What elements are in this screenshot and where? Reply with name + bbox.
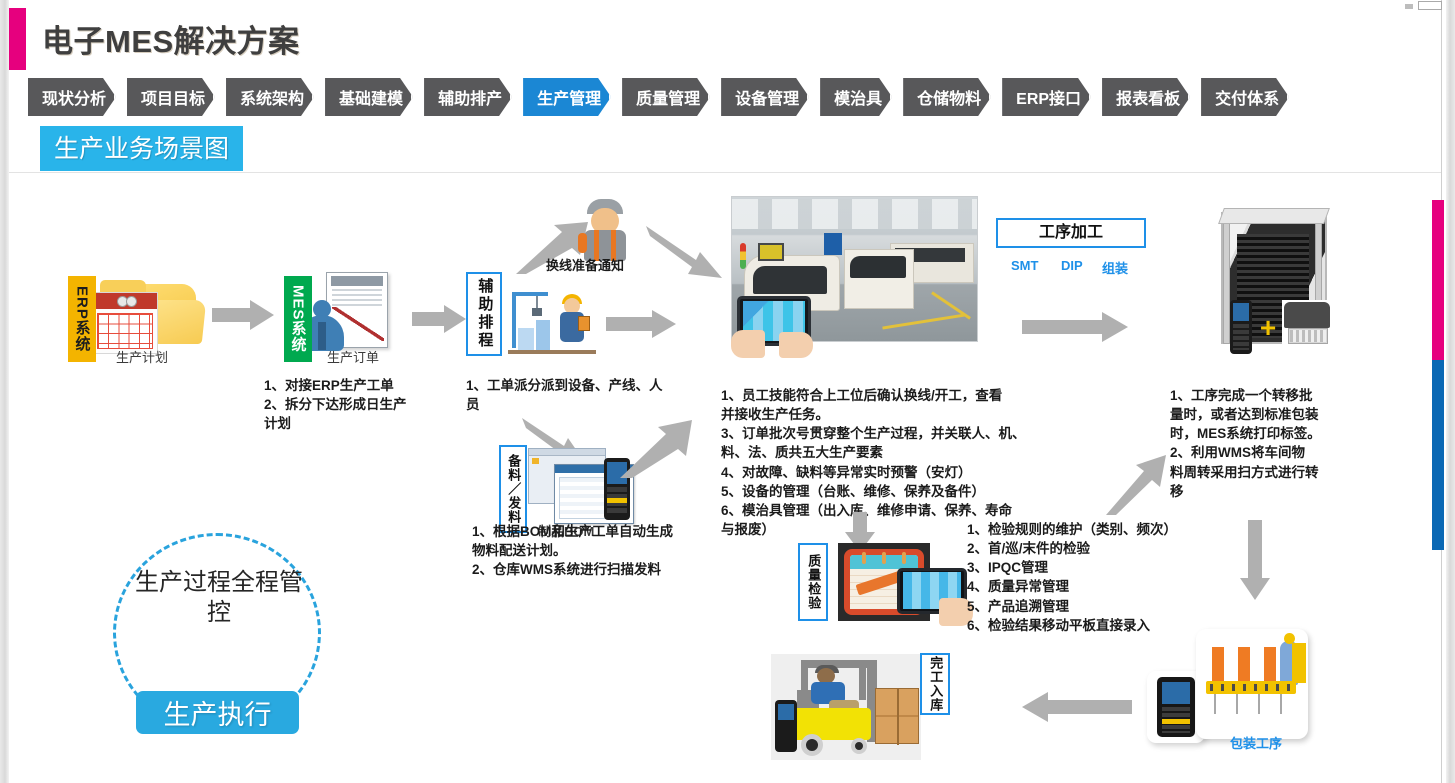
process-box[interactable]: 工序加工	[996, 218, 1146, 248]
arrow-transfer-to-packaging	[1240, 520, 1270, 600]
quality-tablet-icon	[893, 568, 975, 626]
scrollbar-segment-blue[interactable]	[1432, 360, 1444, 550]
label-printer-icon	[1282, 300, 1334, 352]
nav-item-6[interactable]: 质量管理	[622, 78, 710, 116]
mes-system-tag: MES系统	[284, 276, 312, 362]
calendar-icon	[92, 292, 158, 354]
material-notes: 1、根据BOM和生产工单自动生成 物料配送计划。 2、仓库WMS系统进行扫描发料	[472, 522, 722, 579]
process-step-smt: SMT	[1011, 258, 1038, 273]
mes-notes: 1、对接ERP生产工单 2、拆分下达形成日生产 计划	[264, 376, 454, 433]
arrow-packaging-to-finish	[1022, 692, 1132, 722]
nav-item-3[interactable]: 基础建模	[325, 78, 413, 116]
erp-system-tag: ERP系统	[68, 276, 96, 362]
engineer-illustration	[508, 288, 596, 354]
arrow-aux-to-production	[606, 310, 676, 338]
header-divider	[9, 172, 1441, 173]
window-control-chip[interactable]	[1418, 1, 1442, 10]
aux-scheduling-box[interactable]: 辅助排程	[466, 272, 502, 356]
nav-item-8[interactable]: 模治具	[820, 78, 892, 116]
aux-notes: 1、工单派分派到设备、产线、人 员	[466, 376, 676, 414]
transfer-notes: 1、工序完成一个转移批 量时，或者达到标准包装 时，MES系统打印标签。 2、利…	[1170, 386, 1330, 501]
nav-item-9[interactable]: 仓储物料	[903, 78, 991, 116]
nav-item-0[interactable]: 现状分析	[28, 78, 116, 116]
nav-item-7[interactable]: 设备管理	[721, 78, 809, 116]
arrow-material-to-production	[620, 420, 692, 478]
arrow-mes-to-aux	[412, 305, 466, 333]
worker-thumbsup-icon	[578, 199, 632, 261]
nav-item-10[interactable]: ERP接口	[1002, 78, 1091, 116]
nav-item-4[interactable]: 辅助排产	[424, 78, 512, 116]
mes-caption: 生产订单	[327, 347, 379, 366]
changeover-label: 换线准备通知	[546, 255, 624, 274]
title-accent-bar	[9, 8, 26, 70]
tablet-in-hands-icon	[731, 296, 817, 358]
nav-item-5-active[interactable]: 生产管理	[523, 78, 611, 116]
arrow-production-to-process	[1022, 312, 1128, 342]
quality-notes: 1、检验规则的维护（类别、频次） 2、首/巡/末件的检验 3、IPQC管理 4、…	[967, 520, 1237, 635]
rack-pda-icon	[1230, 300, 1252, 354]
right-gutter	[1446, 0, 1455, 783]
slide-canvas: 电子MES解决方案 现状分析 项目目标 系统架构 基础建模 辅助排产 生产管理 …	[0, 0, 1455, 783]
forklift-icon	[771, 654, 921, 760]
window-control-chip-small[interactable]	[1405, 4, 1413, 9]
packaging-process-card	[1196, 629, 1308, 739]
packaging-label: 包装工序	[1216, 733, 1296, 752]
arrow-changeover-to-smt	[646, 222, 722, 278]
nav-item-12[interactable]: 交付体系	[1201, 78, 1289, 116]
page-title: 电子MES解决方案	[42, 16, 300, 61]
nav-item-2[interactable]: 系统架构	[226, 78, 314, 116]
scrollbar-segment-pink[interactable]	[1432, 200, 1444, 360]
material-prep-box[interactable]: 备料／发料	[499, 445, 527, 533]
quality-inspection-box[interactable]: 质量检验	[798, 543, 828, 621]
erp-caption: 生产计划	[116, 347, 168, 366]
production-notes: 1、员工技能符合上工位后确认换线/开工，查看 并接收生产任务。 3、订单批次号贯…	[721, 386, 1041, 539]
arrow-erp-to-mes	[212, 300, 274, 330]
process-step-dip: DIP	[1061, 258, 1083, 273]
finish-warehouse-box[interactable]: 完工入库	[920, 653, 950, 715]
arrow-quality-to-transfer	[1106, 455, 1166, 515]
plus-icon: +	[1257, 318, 1279, 340]
nav-item-1[interactable]: 项目目标	[127, 78, 215, 116]
section-banner: 生产业务场景图	[40, 126, 243, 171]
overall-control-text: 生产过程全程管控	[124, 568, 314, 628]
nav-item-11[interactable]: 报表看板	[1102, 78, 1190, 116]
production-execution-chip[interactable]: 生产执行	[136, 691, 299, 734]
left-gutter	[0, 0, 9, 783]
process-step-assembly: 组装	[1102, 258, 1128, 277]
chevron-nav: 现状分析 项目目标 系统架构 基础建模 辅助排产 生产管理 质量管理 设备管理 …	[28, 78, 1293, 116]
